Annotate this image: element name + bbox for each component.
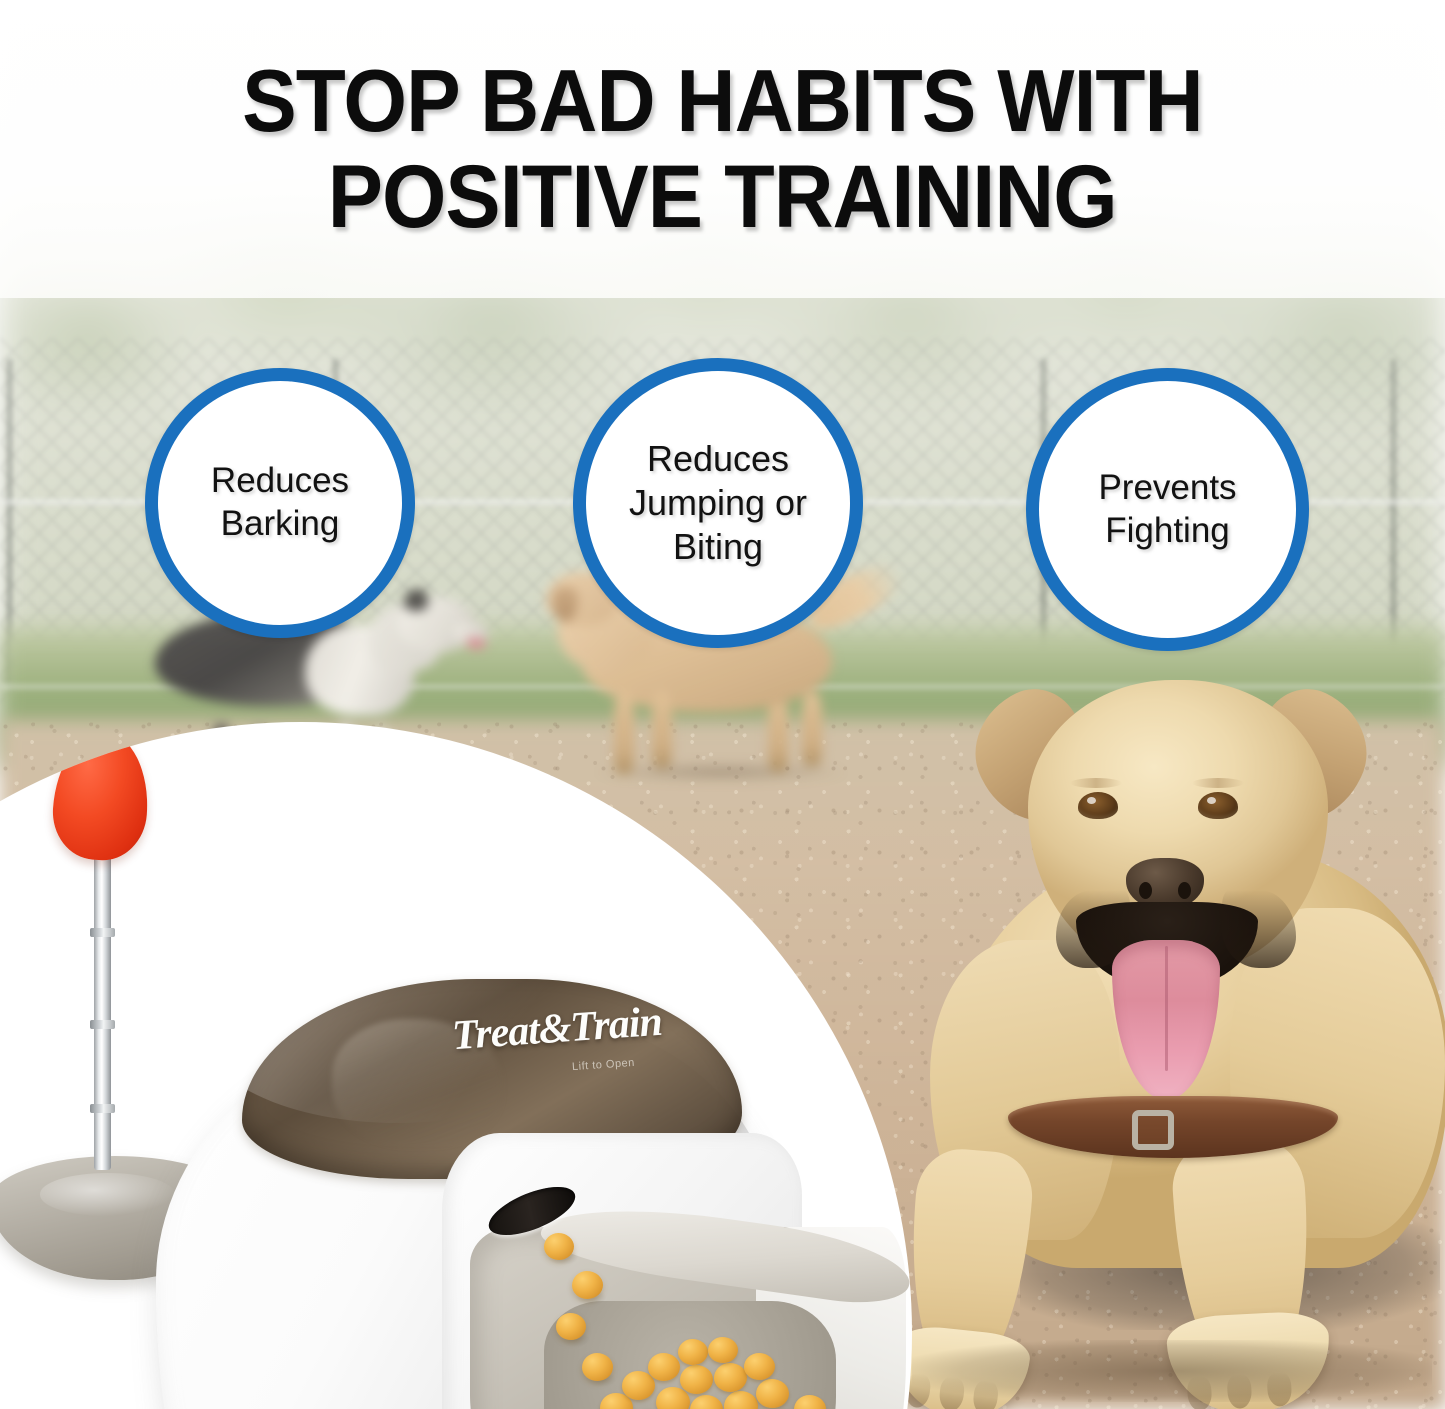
feature-badge-prevents-fighting: Prevents Fighting xyxy=(1026,368,1309,651)
falling-kibble xyxy=(544,1233,574,1260)
headline-line-1: STOP BAD HABITS WITH xyxy=(242,55,1202,147)
falling-kibble xyxy=(572,1271,603,1299)
product-infographic: Treat&Train Lift to Open xyxy=(0,0,1445,1409)
feature-badge-reduces-barking: Reduces Barking xyxy=(145,368,415,638)
dog-eye xyxy=(1078,792,1118,819)
product-callout-circle: Treat&Train Lift to Open xyxy=(0,722,912,1409)
target-stick-tip xyxy=(50,729,153,863)
hero-dog-yellow-labrador xyxy=(900,640,1445,1409)
collar-buckle xyxy=(1132,1110,1174,1150)
treat-train-dispenser: Treat&Train Lift to Open xyxy=(156,897,912,1409)
falling-kibble xyxy=(556,1313,586,1340)
dog-eye xyxy=(1198,792,1238,819)
target-stick-shaft xyxy=(94,850,111,1170)
feature-label: Prevents Fighting xyxy=(1098,467,1236,552)
feature-badge-reduces-jumping-biting: Reduces Jumping or Biting xyxy=(573,358,863,648)
headline-banner: STOP BAD HABITS WITH POSITIVE TRAINING xyxy=(0,0,1445,298)
feature-label: Reduces Jumping or Biting xyxy=(629,437,807,569)
headline-line-2: POSITIVE TRAINING xyxy=(328,150,1117,243)
falling-kibble xyxy=(582,1353,613,1381)
feature-label: Reduces Barking xyxy=(211,460,349,545)
